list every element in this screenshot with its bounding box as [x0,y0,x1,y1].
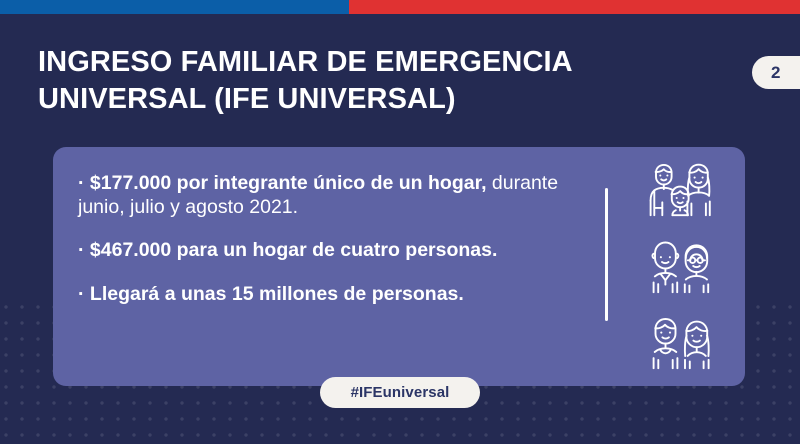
bullet-list: · $177.000 por integrante único de un ho… [78,172,608,306]
top-color-bar [0,0,800,14]
list-item: · $177.000 por integrante único de un ho… [78,172,608,219]
elderly-couple-icon [642,236,720,298]
bullet-2-strong: · $467.000 para un hogar de cuatro perso… [78,239,497,261]
hashtag-label: #IFEuniversal [351,384,450,401]
page-title-line-2: UNIVERSAL (IFE UNIVERSAL) [38,81,678,118]
bullet-3-strong: · Llegará a unas 15 millones de personas… [78,283,464,305]
hashtag-badge: #IFEuniversal [320,377,480,408]
content-card: · $177.000 por integrante único de un ho… [53,147,745,386]
page-title-line-1: INGRESO FAMILIAR DE EMERGENCIA [38,44,678,81]
young-couple-icon [642,312,720,374]
family-three-icon [642,159,720,221]
vertical-divider [605,188,608,321]
bullet-1-strong: · $177.000 por integrante único de un ho… [78,172,487,194]
list-item: · $467.000 para un hogar de cuatro perso… [78,239,608,263]
top-bar-red-segment [349,0,800,14]
slide-root: INGRESO FAMILIAR DE EMERGENCIA UNIVERSAL… [0,0,800,444]
page-number-value: 2 [771,63,780,83]
list-item: · Llegará a unas 15 millones de personas… [78,283,608,307]
top-bar-blue-segment [0,0,349,14]
icon-column [633,159,728,374]
page-number-badge: 2 [752,56,800,89]
page-title: INGRESO FAMILIAR DE EMERGENCIA UNIVERSAL… [38,44,678,118]
